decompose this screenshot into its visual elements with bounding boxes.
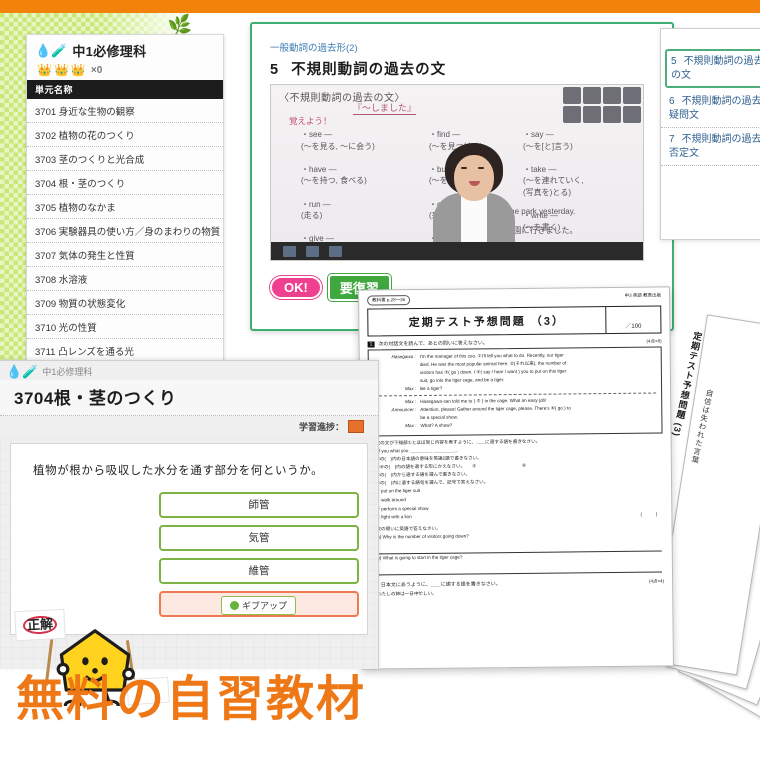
chapter-number: 6 xyxy=(669,96,675,107)
tool-icon xyxy=(623,106,641,123)
tool-icon xyxy=(583,87,601,104)
speaker-label xyxy=(374,362,416,369)
fullscreen-icon[interactable] xyxy=(329,246,342,257)
q6-item: (b) What is going to start in the tiger … xyxy=(376,551,672,563)
giveup-button[interactable]: ギブアップ xyxy=(221,596,296,615)
status-badge-ok[interactable]: OK! xyxy=(270,276,322,299)
list-item[interactable]: 3702 植物の花のつくり xyxy=(27,123,223,147)
question-text: 日本文にあうように、＿＿に適する語を書きなさい。 xyxy=(381,578,645,588)
giveup-label: ギブアップ xyxy=(242,599,287,612)
q2-item: (1) わたしの姉は一日中忙しい。 xyxy=(370,587,672,599)
list-item[interactable]: 3707 気体の発生と性質 xyxy=(27,243,223,267)
worksheet-meta: 中3 英語 教育出版 xyxy=(625,292,662,298)
worksheet-subquestions: (1) 次の文が下線部①とほぼ同じ内容を表すように、＿＿に適する語を書きなさい。… xyxy=(369,436,663,487)
question-number: 1 xyxy=(368,341,375,347)
list-item[interactable]: 3708 水溶液 xyxy=(27,267,223,291)
speaker-label: Max : xyxy=(374,423,416,430)
quiz-window: 💧🧪 中1必修理科 3704根・茎のつくり 学習進捗： 植物が根から吸収した水分… xyxy=(0,360,379,669)
page-title: 不規則動詞の過去の文 xyxy=(291,62,446,78)
teacher-eye-left xyxy=(461,167,467,169)
breadcrumb[interactable]: 💧🧪 中1必修理科 xyxy=(0,361,378,380)
chapter-label: 不規則動詞の過去の文 xyxy=(671,56,760,81)
chapter-number: 5 xyxy=(671,56,677,67)
quiz-body: 植物が根から吸収した水分を通す部分を何というか。 師管 気管 維管 道管 ギブア… xyxy=(10,443,368,635)
tool-icon xyxy=(583,106,601,123)
progress-indicator xyxy=(348,420,364,433)
video-controls[interactable] xyxy=(271,242,644,260)
progress-row: 学習進捗： xyxy=(0,416,378,437)
science-unit-card: 💧🧪 中1必修理科 👑 👑 👑 ×0 単元名称 3701 身近な生物の観察 37… xyxy=(26,34,224,366)
unit-column-header: 単元名称 xyxy=(27,80,223,99)
crown-icon: 👑 xyxy=(37,64,52,76)
chapter-item-7[interactable]: 7不規則動詞の過去の否定文 xyxy=(661,128,760,166)
science-unit-header: 💧🧪 中1必修理科 xyxy=(27,35,223,62)
quiz-question-text: 植物が根から吸収した水分を通す部分を何というか。 xyxy=(11,444,367,478)
list-item[interactable]: 3706 実験器具の使い方／身のまわりの物質 xyxy=(27,219,223,243)
speaker-label: Max : xyxy=(374,399,416,406)
english-lesson-window: 一般動詞の過去形(2) 5不規則動詞の過去の文 〈不規則動詞の過去の文〉 『〜し… xyxy=(250,22,674,331)
list-item[interactable]: 3701 身近な生物の観察 xyxy=(27,99,223,123)
speaker-label: Hasegawa : xyxy=(374,354,416,361)
lesson-subtitle: 一般動詞の過去形(2) xyxy=(252,24,672,56)
worksheet-sheet: 教科書 p.28〜36 中3 英語 教育出版 定期テスト予想問題 （3） ／10… xyxy=(358,286,674,669)
giveup-icon xyxy=(230,601,239,610)
worksheet-title: 定期テスト予想問題 （3） xyxy=(368,307,605,335)
q6-item: (a) Why is the number of visitors going … xyxy=(376,530,672,542)
tool-icon xyxy=(563,87,581,104)
crown-row: 👑 👑 👑 ×0 xyxy=(27,62,223,80)
teacher-face xyxy=(454,155,494,201)
answer-choice: エ fight with a lion xyxy=(375,513,411,522)
whiteboard-column-a: ・see ― (〜を見る, 〜に会う) ・have ― (〜を持つ, 食べる) … xyxy=(301,129,375,257)
speaker-label xyxy=(374,415,416,422)
list-item[interactable]: 3703 茎のつくりと光合成 xyxy=(27,147,223,171)
crown-icon: 👑 xyxy=(54,64,69,76)
english-chapter-list: 5不規則動詞の過去の文 6不規則動詞の過去の疑問文 7不規則動詞の過去の否定文 xyxy=(660,28,760,240)
answer-bracket: ( ) xyxy=(641,511,658,520)
whiteboard-note: 覚えよう！ xyxy=(289,115,332,127)
speaker-text: What? A show? xyxy=(420,421,656,430)
speaker-label xyxy=(374,370,416,377)
list-item[interactable]: 3704 根・茎のつくり xyxy=(27,171,223,195)
crown-icon: 👑 xyxy=(71,64,86,76)
whiteboard-heading2: 『〜しました』 xyxy=(353,101,416,115)
headline-text: 無料の自習教材 xyxy=(16,676,366,724)
chapter-item-5[interactable]: 5不規則動詞の過去の文 xyxy=(665,49,760,88)
tool-icon xyxy=(603,106,621,123)
crown-count: ×0 xyxy=(91,65,102,76)
volume-icon[interactable] xyxy=(306,246,319,257)
beaker-icon: 💧🧪 xyxy=(6,365,38,378)
speaker-text: Be a tiger? xyxy=(420,383,656,392)
whiteboard-toolbar[interactable] xyxy=(563,87,641,123)
correct-flag-label: 正解 xyxy=(23,615,58,634)
top-orange-bar xyxy=(0,0,760,13)
choice-button-2[interactable]: 気管 xyxy=(159,525,359,551)
page-root: 🌿 💧🧪 中1必修理科 👑 👑 👑 ×0 単元名称 3701 身近な生物の観察 … xyxy=(0,0,760,760)
lesson-number: 5 xyxy=(270,62,279,78)
worksheet-topbar: 教科書 p.28〜36 中3 英語 教育出版 xyxy=(359,287,669,305)
page-title: 3704根・茎のつくり xyxy=(14,384,378,409)
worksheet-page-ref: 教科書 p.28〜36 xyxy=(367,295,410,305)
tool-icon xyxy=(603,87,621,104)
whiteboard-column-c: ・say ― (〜を[と]言う) ・take ― (〜を連れていく, (写真を)… xyxy=(523,129,584,233)
science-app-title: 中1必修理科 xyxy=(72,41,146,60)
question-text: 次の対話文を読んで、あとの問いに答えなさい。 xyxy=(378,338,642,348)
quiz-header: 3704根・茎のつくり xyxy=(0,380,378,416)
answer-line[interactable] xyxy=(376,562,662,575)
beaker-icon: 💧🧪 xyxy=(35,44,67,57)
speaker-label: Announcer : xyxy=(374,407,416,414)
list-item[interactable]: 3705 植物のなかま xyxy=(27,195,223,219)
breadcrumb-label: 中1必修理科 xyxy=(42,365,92,378)
teacher-eye-right xyxy=(478,167,484,169)
list-item[interactable]: 3710 光の性質 xyxy=(27,315,223,339)
lesson-video-player[interactable]: 〈不規則動詞の過去の文〉 『〜しました』 覚えよう！ ・see ― (〜を見る,… xyxy=(270,84,644,261)
choice-button-1[interactable]: 師管 xyxy=(159,492,359,518)
tool-icon xyxy=(623,87,641,104)
tool-icon xyxy=(563,106,581,123)
question-points: (4点×8) xyxy=(646,338,661,344)
chapter-number: 7 xyxy=(669,134,675,145)
chapter-label: 不規則動詞の過去の疑問文 xyxy=(669,96,760,121)
worksheet-score-box: ／100 xyxy=(605,306,660,333)
speaker-label: Max : xyxy=(374,386,416,393)
dialogue-box: Hasegawa : I'm the manager of this zoo. … xyxy=(368,346,663,436)
choice-button-3[interactable]: 維管 xyxy=(159,558,359,584)
worksheet-title-row: 定期テスト予想問題 （3） ／100 xyxy=(367,305,661,336)
speaker-label xyxy=(374,378,416,385)
play-icon[interactable] xyxy=(283,246,296,257)
list-item[interactable]: 3709 物質の状態変化 xyxy=(27,291,223,315)
divider xyxy=(374,393,656,397)
question-points: (4点×4) xyxy=(649,579,664,585)
progress-label: 学習進捗： xyxy=(299,420,344,433)
chapter-label: 不規則動詞の過去の否定文 xyxy=(669,134,760,159)
lesson-title-row: 5不規則動詞の過去の文 xyxy=(252,56,672,85)
chapter-item-6[interactable]: 6不規則動詞の過去の疑問文 xyxy=(661,90,760,128)
